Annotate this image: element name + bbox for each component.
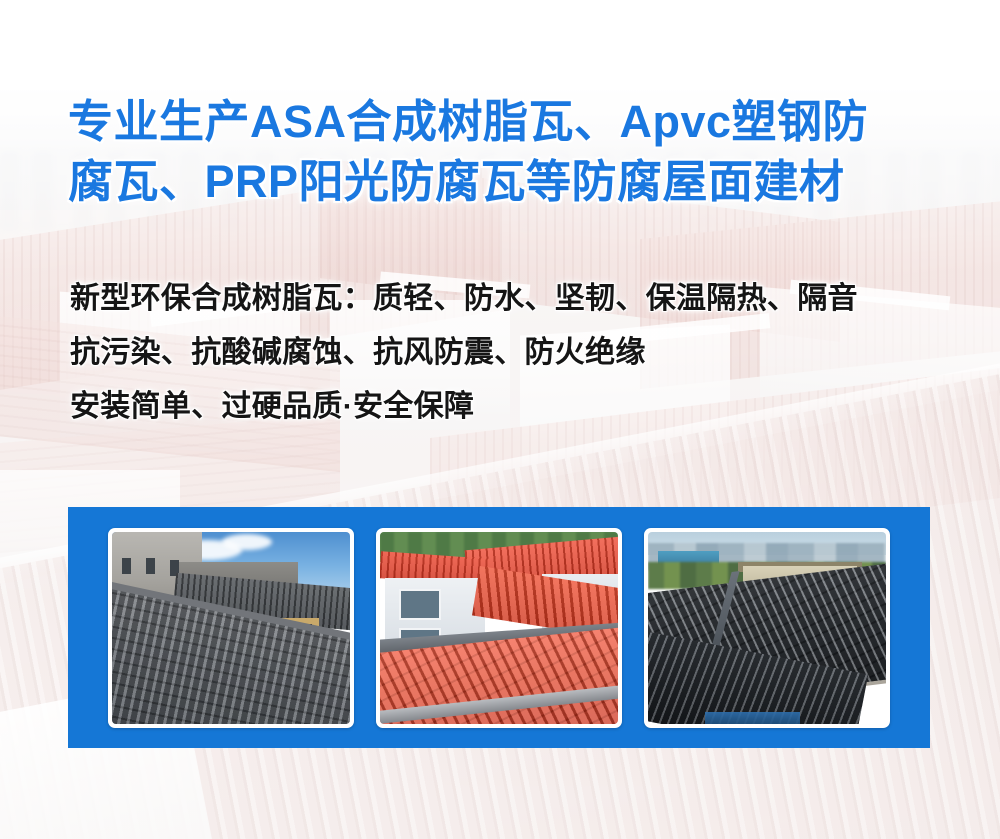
- gallery-photo-1[interactable]: [108, 528, 354, 728]
- page-subtitle-line-2: 抗污染、抗酸碱腐蚀、抗风防震、防火绝缘: [70, 326, 970, 380]
- photo1-window-2: [146, 558, 155, 574]
- promo-banner-page: 专业生产ASA合成树脂瓦、Apvc塑钢防 腐瓦、PRP阳光防腐瓦等防腐屋面建材 …: [0, 0, 1000, 839]
- page-title-line-1: 专业生产ASA合成树脂瓦、Apvc塑钢防: [68, 92, 948, 152]
- page-subtitle: 新型环保合成树脂瓦：质轻、防水、坚韧、保温隔热、隔音 抗污染、抗酸碱腐蚀、抗风防…: [70, 272, 970, 434]
- grey-wave-tile-roof-photo: [112, 532, 350, 724]
- gallery-photo-3[interactable]: [644, 528, 890, 728]
- page-subtitle-line-1: 新型环保合成树脂瓦：质轻、防水、坚韧、保温隔热、隔音: [70, 272, 970, 326]
- page-title-line-2: 腐瓦、PRP阳光防腐瓦等防腐屋面建材: [68, 152, 948, 212]
- photo3-blue-strip: [705, 712, 800, 724]
- photo1-cloud-2: [222, 534, 272, 550]
- red-tile-roof-photo: [380, 532, 618, 724]
- photo2-window-1: [399, 589, 441, 620]
- content-layer: 专业生产ASA合成树脂瓦、Apvc塑钢防 腐瓦、PRP阳光防腐瓦等防腐屋面建材 …: [0, 0, 1000, 839]
- photo1-window-1: [122, 558, 131, 574]
- page-subtitle-line-3: 安装简单、过硬品质·安全保障: [70, 380, 970, 434]
- page-title: 专业生产ASA合成树脂瓦、Apvc塑钢防 腐瓦、PRP阳光防腐瓦等防腐屋面建材: [68, 92, 948, 212]
- photo-gallery-panel: [68, 507, 930, 748]
- gallery-photo-2[interactable]: [376, 528, 622, 728]
- dark-tile-roof-photo: [648, 532, 886, 724]
